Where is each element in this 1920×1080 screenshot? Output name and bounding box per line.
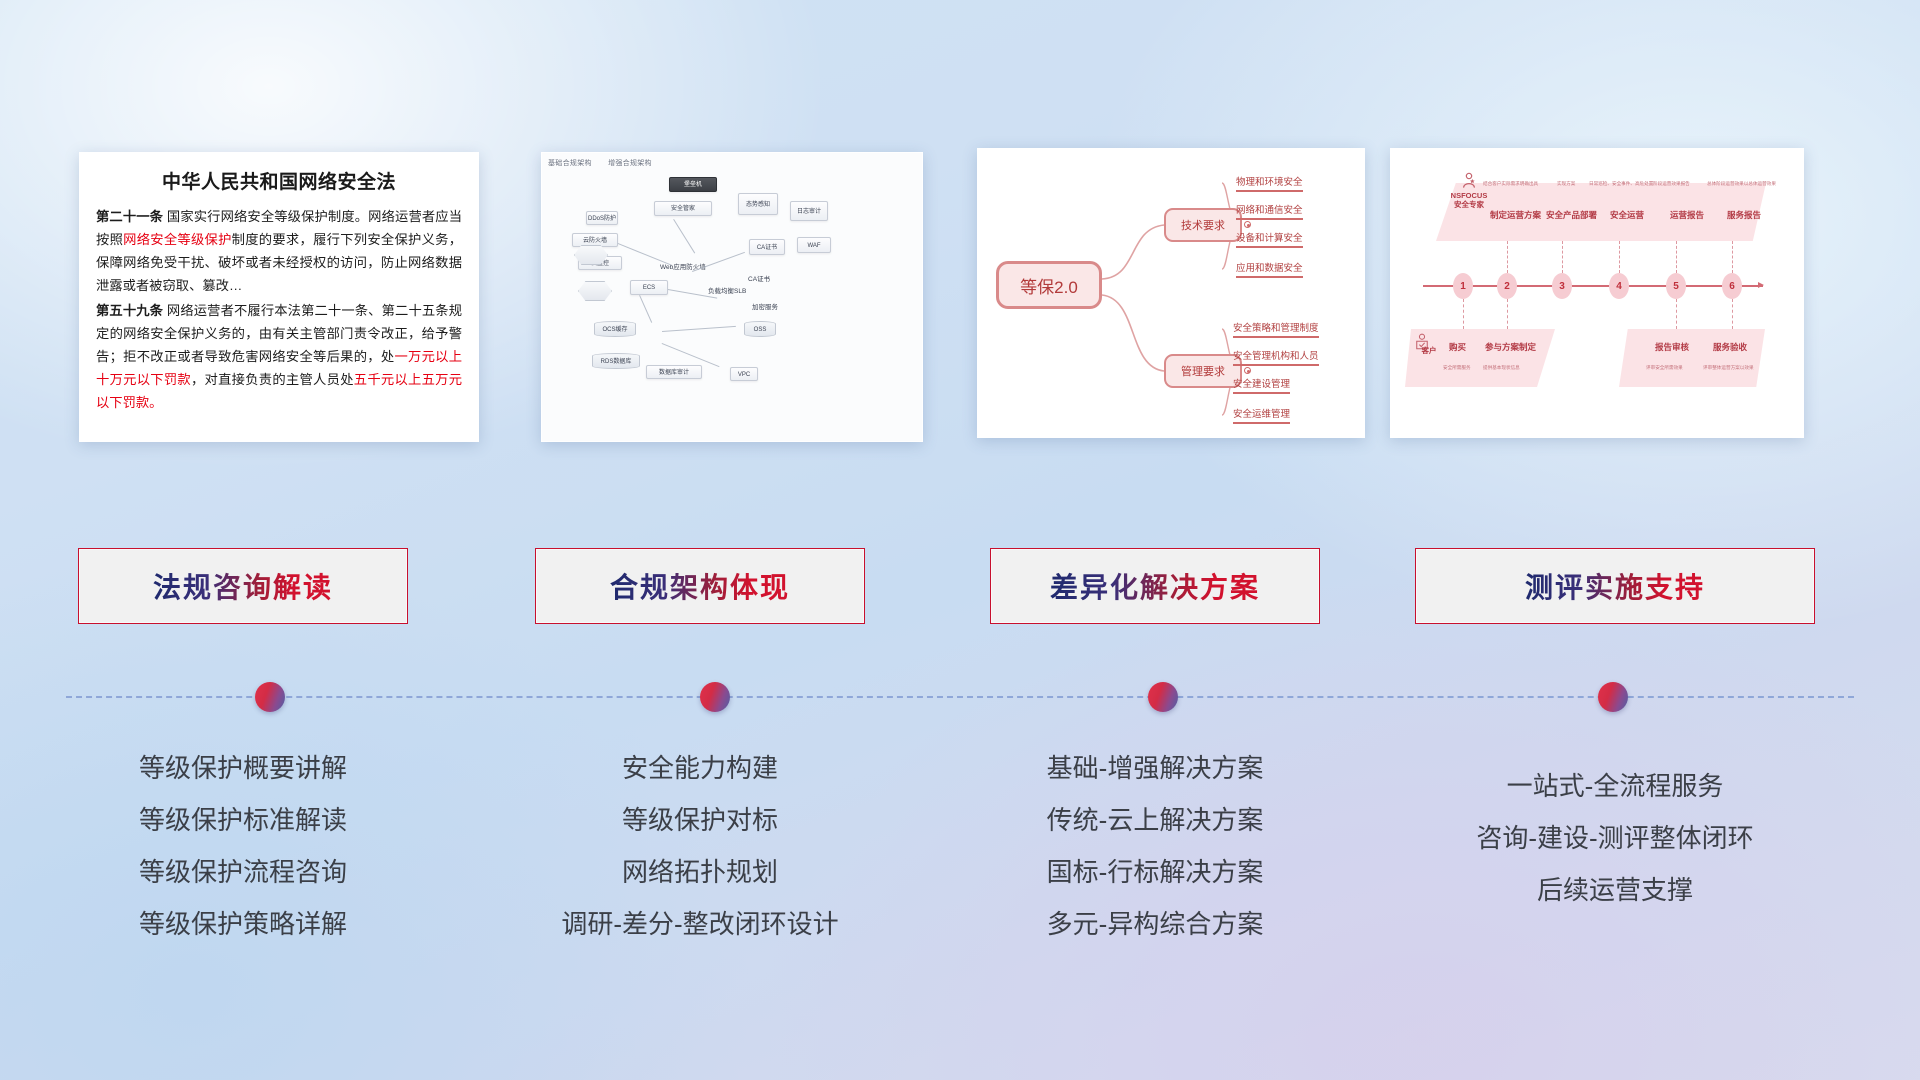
service-list-item: 调研-差分-整改闭环设计 — [520, 898, 880, 950]
service-list-item: 等级保护概要讲解 — [78, 742, 408, 794]
roadmap-title: 制定运营方案 — [1490, 209, 1541, 221]
roadmap-sub: 结合客户实际需求明确出具 — [1483, 181, 1538, 187]
expert-person-icon — [1459, 171, 1479, 191]
arch-node-vpc: VPC — [730, 367, 758, 381]
mindmap-leaf: 物理和环境安全 — [1236, 174, 1303, 192]
arch-label-ca2: CA证书 — [748, 273, 770, 283]
mindmap-leaf: 安全管理机构和人员 — [1233, 348, 1319, 366]
roadmap-sub: 日常巡检、安全事件、高危处置 — [1589, 181, 1653, 187]
architecture-canvas: 基础合规架构 增强合规架构 堡垒机 安全管家 DDoS防护 云防火墙 云监控 态… — [542, 153, 922, 441]
timeline-dot-1[interactable] — [255, 682, 285, 712]
arch-node-ocs: OCS缓存 — [594, 321, 636, 337]
roadmap-sub: 评审安全所需效果 — [1646, 365, 1683, 371]
arch-node-ecs: ECS — [630, 280, 668, 295]
arch-node-cloudfw: 云防火墙 — [572, 233, 618, 247]
arch-tag: 基础合规架构 — [548, 160, 592, 167]
service-list-item: 基础-增强解决方案 — [965, 742, 1345, 794]
law-title: 中华人民共和国网络安全法 — [96, 167, 462, 194]
mindmap-leaf: 安全策略和管理制度 — [1233, 320, 1319, 338]
service-list-item: 多元-异构综合方案 — [965, 898, 1345, 950]
roadmap-sub: 提供基本现状信息 — [1483, 365, 1520, 371]
law-run: ，对直接负责的主管人员处 — [191, 372, 354, 387]
mindmap-leaf: 应用和数据安全 — [1236, 260, 1303, 278]
law-article-label: 第五十九条 — [96, 303, 163, 318]
roadmap-title: 安全运营 — [1610, 209, 1644, 221]
law-paragraph: 第二十一条 国家实行网络安全等级保护制度。网络运营者应当按照网络安全等级保护制度… — [96, 206, 462, 297]
roadmap-band-bottom-right — [1619, 329, 1765, 387]
category-title-box-2[interactable]: 合规架构体现 — [535, 548, 865, 624]
law-run-highlight: 网络安全等级保护 — [123, 232, 232, 247]
arch-node-ca: CA证书 — [749, 239, 785, 255]
category-title-1: 法规咨询解读 — [153, 566, 333, 606]
service-list-item: 等级保护策略详解 — [78, 898, 408, 950]
mindmap-leaf: 设备和计算安全 — [1236, 230, 1303, 248]
service-list-item: 后续运营支撑 — [1395, 864, 1835, 916]
mindmap-leaf: 安全建设管理 — [1233, 376, 1290, 394]
roadmap-title: 运营报告 — [1670, 209, 1704, 221]
service-list-item: 国标-行标解决方案 — [965, 846, 1345, 898]
roadmap-title: 购买 — [1449, 341, 1466, 353]
service-list-item: 传统-云上解决方案 — [965, 794, 1345, 846]
roadmap-sub: 实现方案 — [1557, 181, 1575, 187]
mindmap-root: 等保2.0 — [996, 261, 1102, 309]
service-list-item: 安全能力构建 — [520, 742, 880, 794]
arch-label-slb: 负载均衡SLB — [708, 285, 746, 295]
roadmap-step-1: 1 — [1453, 273, 1473, 299]
service-list-item: 一站式-全流程服务 — [1395, 760, 1835, 812]
service-list-item: 等级保护对标 — [520, 794, 880, 846]
service-list-2: 安全能力构建 等级保护对标 网络拓扑规划 调研-差分-整改闭环设计 — [520, 742, 880, 950]
roadmap-sub: 总体阶段运营效果以总体运营效果 — [1707, 181, 1776, 187]
mindmap-dot-technical — [1244, 221, 1251, 228]
arch-node-bastion: 堡垒机 — [669, 177, 717, 192]
card-roadmap: NSFOCUS 安全专家 客户 结合客户实际需求明确出具 制定运营方案 实现方案… — [1390, 148, 1804, 438]
roadmap-canvas: NSFOCUS 安全专家 客户 结合客户实际需求明确出具 制定运营方案 实现方案… — [1391, 149, 1803, 437]
arch-node-oss: OSS — [744, 321, 776, 337]
category-title-box-1[interactable]: 法规咨询解读 — [78, 548, 408, 624]
mindmap-leaf: 安全运维管理 — [1233, 406, 1290, 424]
arch-node-situation: 态势感知 — [738, 193, 778, 215]
roadmap-sub: 阶段运营效果报告 — [1653, 181, 1690, 187]
roadmap-step-6: 6 — [1722, 273, 1742, 299]
category-title-4: 测评实施支持 — [1525, 566, 1705, 606]
roadmap-step-4: 4 — [1609, 273, 1629, 299]
arch-node-waf-right: WAF — [797, 237, 831, 253]
roadmap-customer-label: 客户 — [1411, 345, 1447, 356]
timeline-dot-3[interactable] — [1148, 682, 1178, 712]
mindmap-leaf: 网络和通信安全 — [1236, 202, 1303, 220]
roadmap-brand: NSFOCUS 安全专家 — [1443, 191, 1495, 210]
mindmap-dot-management — [1244, 367, 1251, 374]
roadmap-sub: 安全所需服务 — [1443, 365, 1471, 371]
service-list-item: 等级保护流程咨询 — [78, 846, 408, 898]
service-list-1: 等级保护概要讲解 等级保护标准解读 等级保护流程咨询 等级保护策略详解 — [78, 742, 408, 950]
mindmap-canvas: 等保2.0 技术要求 物理和环境安全 网络和通信安全 设备和计算安全 应用和数据… — [978, 149, 1364, 437]
arch-node-rds: RDS数据库 — [592, 353, 640, 369]
roadmap-brand-line1: NSFOCUS — [1443, 191, 1495, 200]
arch-node-guard: 安全管家 — [654, 201, 712, 216]
roadmap-axis — [1423, 285, 1763, 287]
category-title-box-4[interactable]: 测评实施支持 — [1415, 548, 1815, 624]
timeline-dot-2[interactable] — [700, 682, 730, 712]
service-list-4: 一站式-全流程服务 咨询-建设-测评整体闭环 后续运营支撑 — [1395, 760, 1835, 916]
service-list-item: 网络拓扑规划 — [520, 846, 880, 898]
arch-label-encrypt: 加密服务 — [752, 301, 778, 311]
roadmap-sub: 评审整体运营方案以效果 — [1703, 365, 1754, 371]
roadmap-title: 服务验收 — [1713, 341, 1747, 353]
arch-tag: 增强合规架构 — [608, 160, 652, 167]
roadmap-title: 参与方案制定 — [1485, 341, 1536, 353]
category-title-2: 合规架构体现 — [610, 566, 790, 606]
card-law-text: 中华人民共和国网络安全法 第二十一条 国家实行网络安全等级保护制度。网络运营者应… — [79, 152, 479, 442]
category-title-box-3[interactable]: 差异化解决方案 — [990, 548, 1320, 624]
service-list-item: 等级保护标准解读 — [78, 794, 408, 846]
roadmap-title: 服务报告 — [1727, 209, 1761, 221]
arch-node-log: 日志审计 — [790, 201, 828, 221]
arch-node-ddos: DDoS防护 — [586, 211, 618, 225]
roadmap-title: 安全产品部署 — [1546, 209, 1597, 221]
arch-node-dbaudit: 数据库审计 — [646, 365, 702, 379]
timeline-dot-4[interactable] — [1598, 682, 1628, 712]
law-body: 中华人民共和国网络安全法 第二十一条 国家实行网络安全等级保护制度。网络运营者应… — [80, 153, 478, 425]
roadmap-title: 报告审核 — [1655, 341, 1689, 353]
card-architecture-diagram: 基础合规架构 增强合规架构 堡垒机 安全管家 DDoS防护 云防火墙 云监控 态… — [541, 152, 923, 442]
service-list-item: 咨询-建设-测评整体闭环 — [1395, 812, 1835, 864]
law-paragraph: 第五十九条 网络运营者不履行本法第二十一条、第二十五条规定的网络安全保护义务的，… — [96, 300, 462, 414]
law-article-label: 第二十一条 — [96, 209, 163, 224]
category-title-3: 差异化解决方案 — [1050, 566, 1260, 606]
roadmap-step-3: 3 — [1552, 273, 1572, 299]
mindmap-branch-technical: 技术要求 — [1164, 208, 1242, 242]
roadmap-brand-line2: 安全专家 — [1443, 200, 1495, 209]
architecture-tags: 基础合规架构 增强合规架构 — [548, 158, 652, 168]
card-mindmap: 等保2.0 技术要求 物理和环境安全 网络和通信安全 设备和计算安全 应用和数据… — [977, 148, 1365, 438]
service-list-3: 基础-增强解决方案 传统-云上解决方案 国标-行标解决方案 多元-异构综合方案 — [965, 742, 1345, 950]
mindmap-branch-management: 管理要求 — [1164, 354, 1242, 388]
roadmap-step-5: 5 — [1666, 273, 1686, 299]
arch-hex-left2 — [578, 281, 612, 301]
timeline-dashed-line — [66, 696, 1854, 698]
roadmap-step-2: 2 — [1497, 273, 1517, 299]
slide-canvas: 中华人民共和国网络安全法 第二十一条 国家实行网络安全等级保护制度。网络运营者应… — [0, 0, 1920, 1080]
